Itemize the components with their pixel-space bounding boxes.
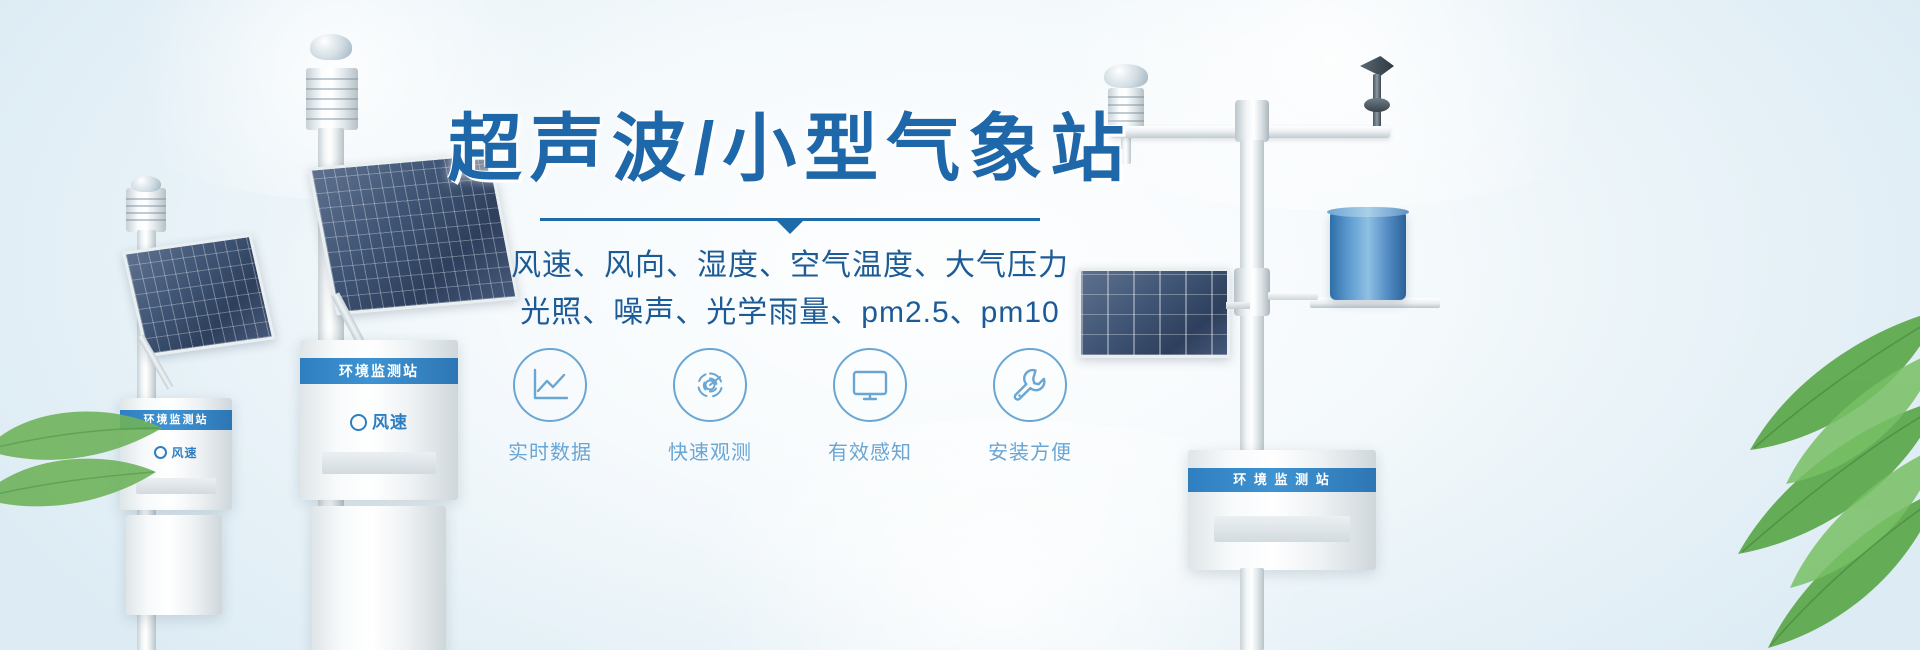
rain-gauge bbox=[1330, 212, 1406, 300]
divider bbox=[540, 218, 1040, 232]
feature-item-fast-observation[interactable]: 快速观测 bbox=[655, 348, 765, 465]
anemometer-cup bbox=[1364, 98, 1390, 112]
banner-content: 超声波/小型气象站 风速、风向、湿度、空气温度、大气压力 光照、噪声、光学雨量、… bbox=[440, 0, 1140, 650]
leaf-decoration-right bbox=[1610, 280, 1920, 650]
cabinet-vent bbox=[136, 478, 216, 494]
equipment-cabinet: 环 境 监 测 站 bbox=[1188, 450, 1376, 570]
feature-icon-circle bbox=[833, 348, 907, 422]
feature-label: 有效感知 bbox=[815, 436, 925, 465]
radar-scan-icon bbox=[690, 365, 730, 405]
product-banner: 环境监测站 风速 环境监测站 bbox=[0, 0, 1920, 650]
page-title: 超声波/小型气象站 bbox=[440, 108, 1140, 189]
feature-list: 实时数据 bbox=[440, 348, 1140, 465]
feature-label: 快速观测 bbox=[655, 436, 765, 465]
line-chart-icon bbox=[530, 366, 570, 404]
lower-equipment-box bbox=[312, 506, 446, 650]
cabinet-strip-text: 环境监测站 bbox=[300, 358, 458, 384]
cabinet-label-strip: 环境监测站 bbox=[300, 358, 458, 384]
feature-item-effective-sensing[interactable]: 有效感知 bbox=[815, 348, 925, 465]
equipment-cabinet: 环境监测站 风速 bbox=[300, 340, 458, 500]
cabinet-brand-text: 风速 bbox=[120, 444, 232, 461]
wrench-icon bbox=[1010, 365, 1050, 405]
lower-equipment-box bbox=[126, 515, 222, 615]
shelf-arm bbox=[1268, 292, 1318, 300]
sensor-dome bbox=[310, 34, 352, 60]
feature-label: 安装方便 bbox=[975, 436, 1085, 465]
rain-gauge-funnel bbox=[1327, 207, 1409, 217]
left-small-station: 环境监测站 风速 bbox=[100, 170, 310, 650]
panel-support-arm bbox=[1226, 302, 1250, 309]
subtitle-line-2: 光照、噪声、光学雨量、pm2.5、pm10 bbox=[440, 287, 1140, 331]
monitor-icon bbox=[850, 367, 890, 403]
cabinet-label-strip: 环 境 监 测 站 bbox=[1188, 468, 1376, 492]
cabinet-label-strip: 环境监测站 bbox=[120, 410, 232, 430]
feature-item-realtime-data[interactable]: 实时数据 bbox=[495, 348, 605, 465]
radiation-shield bbox=[306, 68, 358, 130]
feature-icon-circle bbox=[513, 348, 587, 422]
mast-collar bbox=[1235, 100, 1269, 142]
subtitle-line-1: 风速、风向、湿度、空气温度、大气压力 bbox=[440, 240, 1140, 284]
cabinet-vent bbox=[1214, 516, 1350, 542]
ultrasonic-sensor-head bbox=[126, 188, 166, 232]
feature-icon-circle bbox=[993, 348, 1067, 422]
divider-triangle-icon bbox=[777, 221, 803, 234]
mast-pole-lower bbox=[1240, 568, 1264, 650]
sensor-dome bbox=[131, 176, 161, 192]
wind-vane-icon bbox=[1360, 56, 1394, 76]
cabinet-vent bbox=[322, 452, 436, 474]
feature-item-easy-installation[interactable]: 安装方便 bbox=[975, 348, 1085, 465]
cabinet-strip-text: 环境监测站 bbox=[120, 410, 232, 430]
cabinet-strip-text: 环 境 监 测 站 bbox=[1188, 468, 1376, 492]
feature-icon-circle bbox=[673, 348, 747, 422]
feature-label: 实时数据 bbox=[495, 436, 605, 465]
cabinet-brand-text: 风速 bbox=[300, 408, 458, 433]
equipment-cabinet: 环境监测站 风速 bbox=[120, 398, 232, 510]
